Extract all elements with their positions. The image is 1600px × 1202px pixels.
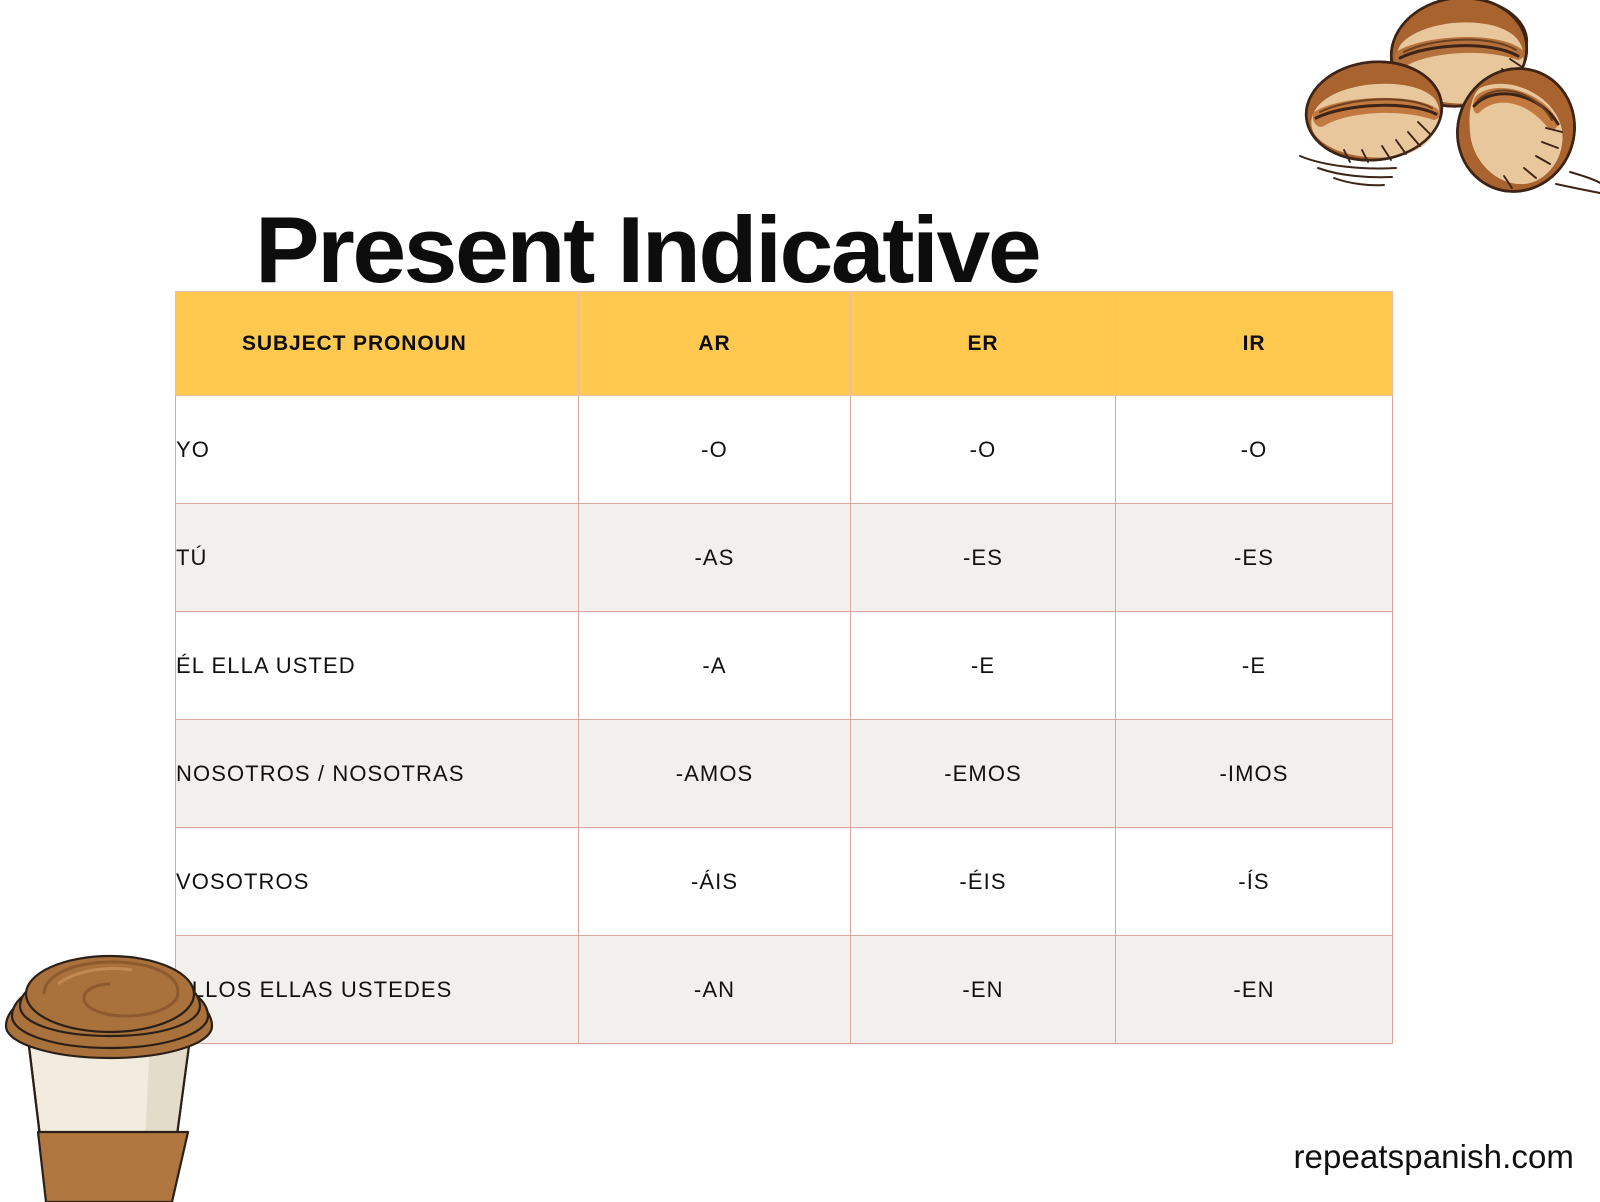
table-row: YO -O -O -O: [176, 396, 1393, 504]
cell-subject: TÚ: [176, 504, 579, 612]
cell-ar: -AN: [579, 936, 851, 1044]
cell-ir: -ÍS: [1116, 828, 1393, 936]
cell-ar: -AMOS: [579, 720, 851, 828]
table-header: SUBJECT PRONOUN AR ER IR: [176, 292, 1393, 396]
cell-ar: -ÁIS: [579, 828, 851, 936]
cell-subject: NOSOTROS / NOSOTRAS: [176, 720, 579, 828]
cell-er: -E: [851, 612, 1116, 720]
conjugation-table: SUBJECT PRONOUN AR ER IR YO -O -O -O TÚ …: [175, 291, 1393, 1044]
column-header-ir: IR: [1116, 292, 1393, 396]
cell-ir: -IMOS: [1116, 720, 1393, 828]
site-url-label: repeatspanish.com: [1293, 1138, 1574, 1176]
cell-ir: -O: [1116, 396, 1393, 504]
cell-subject: YO: [176, 396, 579, 504]
cell-er: -ES: [851, 504, 1116, 612]
cell-subject: ÉL ELLA USTED: [176, 612, 579, 720]
cell-er: -EN: [851, 936, 1116, 1044]
cell-subject: ELLOS ELLAS USTEDES: [176, 936, 579, 1044]
table-header-row: SUBJECT PRONOUN AR ER IR: [176, 292, 1393, 396]
cell-er: -ÉIS: [851, 828, 1116, 936]
table-row: ÉL ELLA USTED -A -E -E: [176, 612, 1393, 720]
cell-subject: VOSOTROS: [176, 828, 579, 936]
cell-er: -O: [851, 396, 1116, 504]
cell-er: -EMOS: [851, 720, 1116, 828]
cell-ar: -O: [579, 396, 851, 504]
table-body: YO -O -O -O TÚ -AS -ES -ES ÉL ELLA USTED…: [176, 396, 1393, 1044]
cell-ir: -ES: [1116, 504, 1393, 612]
table-row: TÚ -AS -ES -ES: [176, 504, 1393, 612]
cell-ar: -A: [579, 612, 851, 720]
column-header-ar: AR: [579, 292, 851, 396]
table-row: ELLOS ELLAS USTEDES -AN -EN -EN: [176, 936, 1393, 1044]
cell-ir: -EN: [1116, 936, 1393, 1044]
coffee-beans-icon: [1284, 0, 1600, 196]
table-row: NOSOTROS / NOSOTRAS -AMOS -EMOS -IMOS: [176, 720, 1393, 828]
page-title: Present Indicative: [255, 203, 1039, 297]
cell-ir: -E: [1116, 612, 1393, 720]
column-header-er: ER: [851, 292, 1116, 396]
column-header-subject: SUBJECT PRONOUN: [176, 292, 579, 396]
cell-ar: -AS: [579, 504, 851, 612]
table-row: VOSOTROS -ÁIS -ÉIS -ÍS: [176, 828, 1393, 936]
